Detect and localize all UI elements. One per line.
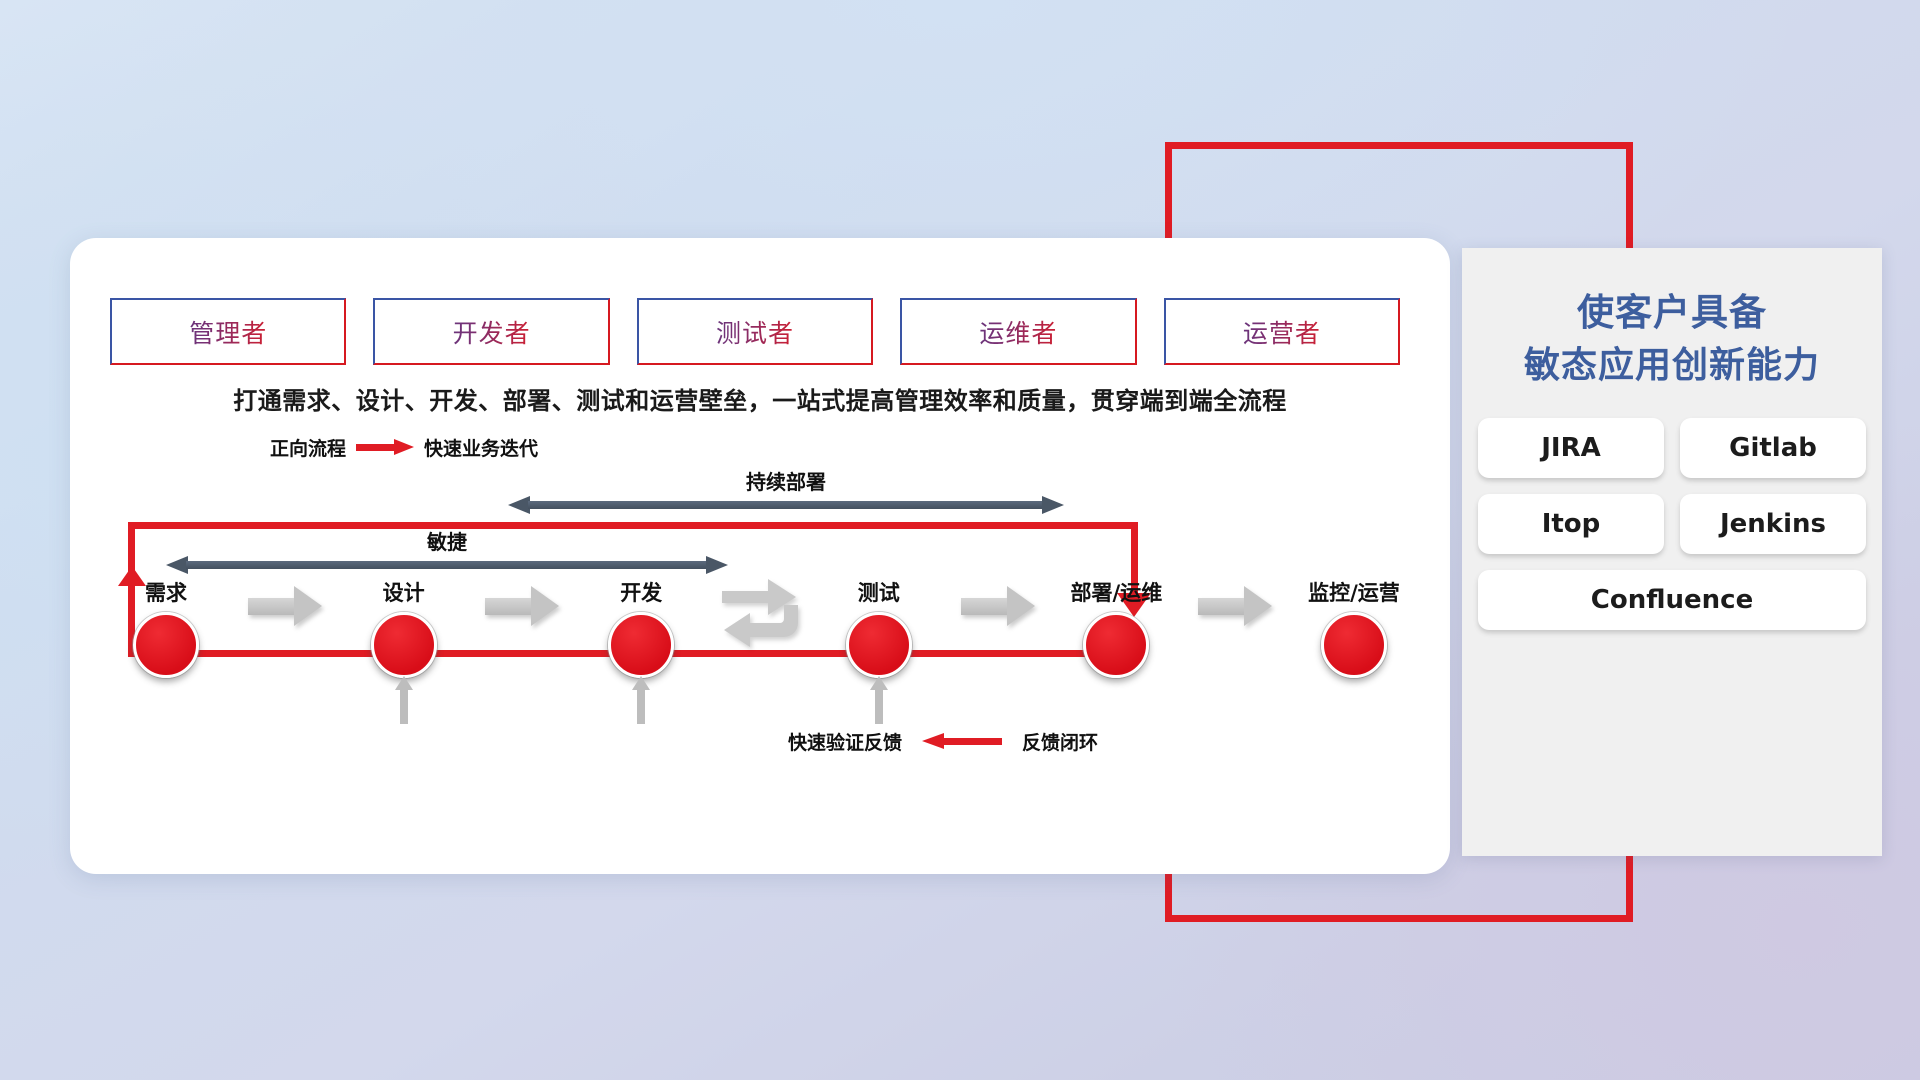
gray-right-arrow-icon xyxy=(961,586,1035,626)
feedback-annotation: 快速验证反馈 反馈闭环 xyxy=(788,728,1098,755)
pipeline-stage-design[interactable]: 设计 xyxy=(348,577,460,678)
arrow-shaft xyxy=(528,501,1044,509)
tool-button-grid: JIRA Gitlab Itop Jenkins Confluence xyxy=(1478,418,1866,630)
tool-button-confluence[interactable]: Confluence xyxy=(1478,570,1866,630)
description-text: 打通需求、设计、开发、部署、测试和运营壁垒，一站式提高管理效率和质量，贯穿端到端… xyxy=(70,381,1450,416)
continuous-deployment-label: 持续部署 xyxy=(508,466,1064,495)
stage-label: 开发 xyxy=(620,577,662,607)
role-box-tester[interactable]: 测试者 xyxy=(637,298,873,365)
stage-node-circle xyxy=(846,612,912,678)
pipeline-connector xyxy=(1172,548,1298,678)
pipeline-stage-monitor-operation[interactable]: 监控/运营 xyxy=(1298,577,1410,678)
stage-label: 需求 xyxy=(145,577,187,607)
fast-verification-label: 快速验证反馈 xyxy=(788,728,902,755)
stage-node-circle xyxy=(608,612,674,678)
tool-button-gitlab[interactable]: Gitlab xyxy=(1680,418,1866,478)
arrow-head-left-icon xyxy=(508,496,530,514)
role-box-operator[interactable]: 运营者 xyxy=(1164,298,1400,365)
stage-node-circle xyxy=(371,612,437,678)
arrow-head-right-icon xyxy=(1042,496,1064,514)
stage-label: 设计 xyxy=(383,577,425,607)
continuous-deployment-arrow: 持续部署 xyxy=(508,496,1064,514)
role-box-ops[interactable]: 运维者 xyxy=(900,298,1136,365)
diagram-canvas: 管理者 开发者 测试者 运维者 运营者 打通需求、设计、开发、部署、测试和运营壁… xyxy=(0,0,1920,1080)
panel-title-line-2: 敏态应用创新能力 xyxy=(1462,340,1882,392)
forward-flow-annotation: 正向流程 快速业务迭代 xyxy=(270,434,538,461)
red-left-arrow-icon xyxy=(922,733,1002,750)
feedback-loop-label: 反馈闭环 xyxy=(1022,728,1098,755)
gray-right-arrow-icon xyxy=(248,586,322,626)
pipeline-connector-cyclic xyxy=(697,548,823,678)
pipeline-stage-development[interactable]: 开发 xyxy=(585,577,697,678)
pipeline-row: 需求 设计 开发 xyxy=(110,548,1410,678)
tool-button-jenkins[interactable]: Jenkins xyxy=(1680,494,1866,554)
stage-label: 测试 xyxy=(858,577,900,607)
feed-up-arrow-icon xyxy=(870,676,888,724)
feed-up-arrow-icon xyxy=(395,676,413,724)
red-bracket-top xyxy=(1165,142,1633,149)
pipeline-connector xyxy=(935,548,1061,678)
stage-label: 部署/运维 xyxy=(1071,577,1163,607)
pipeline-connector xyxy=(222,548,348,678)
value-proposition-panel: 使客户具备 敏态应用创新能力 JIRA Gitlab Itop Jenkins … xyxy=(1462,248,1882,856)
cyclic-loop-arrow-icon xyxy=(716,571,804,649)
panel-title: 使客户具备 敏态应用创新能力 xyxy=(1462,286,1882,392)
pipeline-stage-requirement[interactable]: 需求 xyxy=(110,577,222,678)
forward-flow-label: 正向流程 xyxy=(270,434,346,461)
red-bracket-bottom xyxy=(1165,915,1633,922)
main-card: 管理者 开发者 测试者 运维者 运营者 打通需求、设计、开发、部署、测试和运营壁… xyxy=(70,238,1450,874)
gray-right-arrow-icon xyxy=(1198,586,1272,626)
tool-button-jira[interactable]: JIRA xyxy=(1478,418,1664,478)
role-box-manager[interactable]: 管理者 xyxy=(110,298,346,365)
stage-node-circle xyxy=(1321,612,1387,678)
role-box-row: 管理者 开发者 测试者 运维者 运营者 xyxy=(110,298,1400,365)
pipeline-stage-testing[interactable]: 测试 xyxy=(823,577,935,678)
gray-right-arrow-icon xyxy=(485,586,559,626)
red-right-arrow-icon xyxy=(356,439,414,456)
stage-node-circle xyxy=(1083,612,1149,678)
fast-iteration-label: 快速业务迭代 xyxy=(424,434,538,461)
stage-node-circle xyxy=(133,612,199,678)
tool-button-itop[interactable]: Itop xyxy=(1478,494,1664,554)
feed-up-arrow-icon xyxy=(632,676,650,724)
stage-label: 监控/运营 xyxy=(1308,577,1400,607)
panel-title-line-1: 使客户具备 xyxy=(1462,286,1882,340)
pipeline-stage-deploy-ops[interactable]: 部署/运维 xyxy=(1060,577,1172,678)
pipeline-connector xyxy=(460,548,586,678)
role-box-developer[interactable]: 开发者 xyxy=(373,298,609,365)
